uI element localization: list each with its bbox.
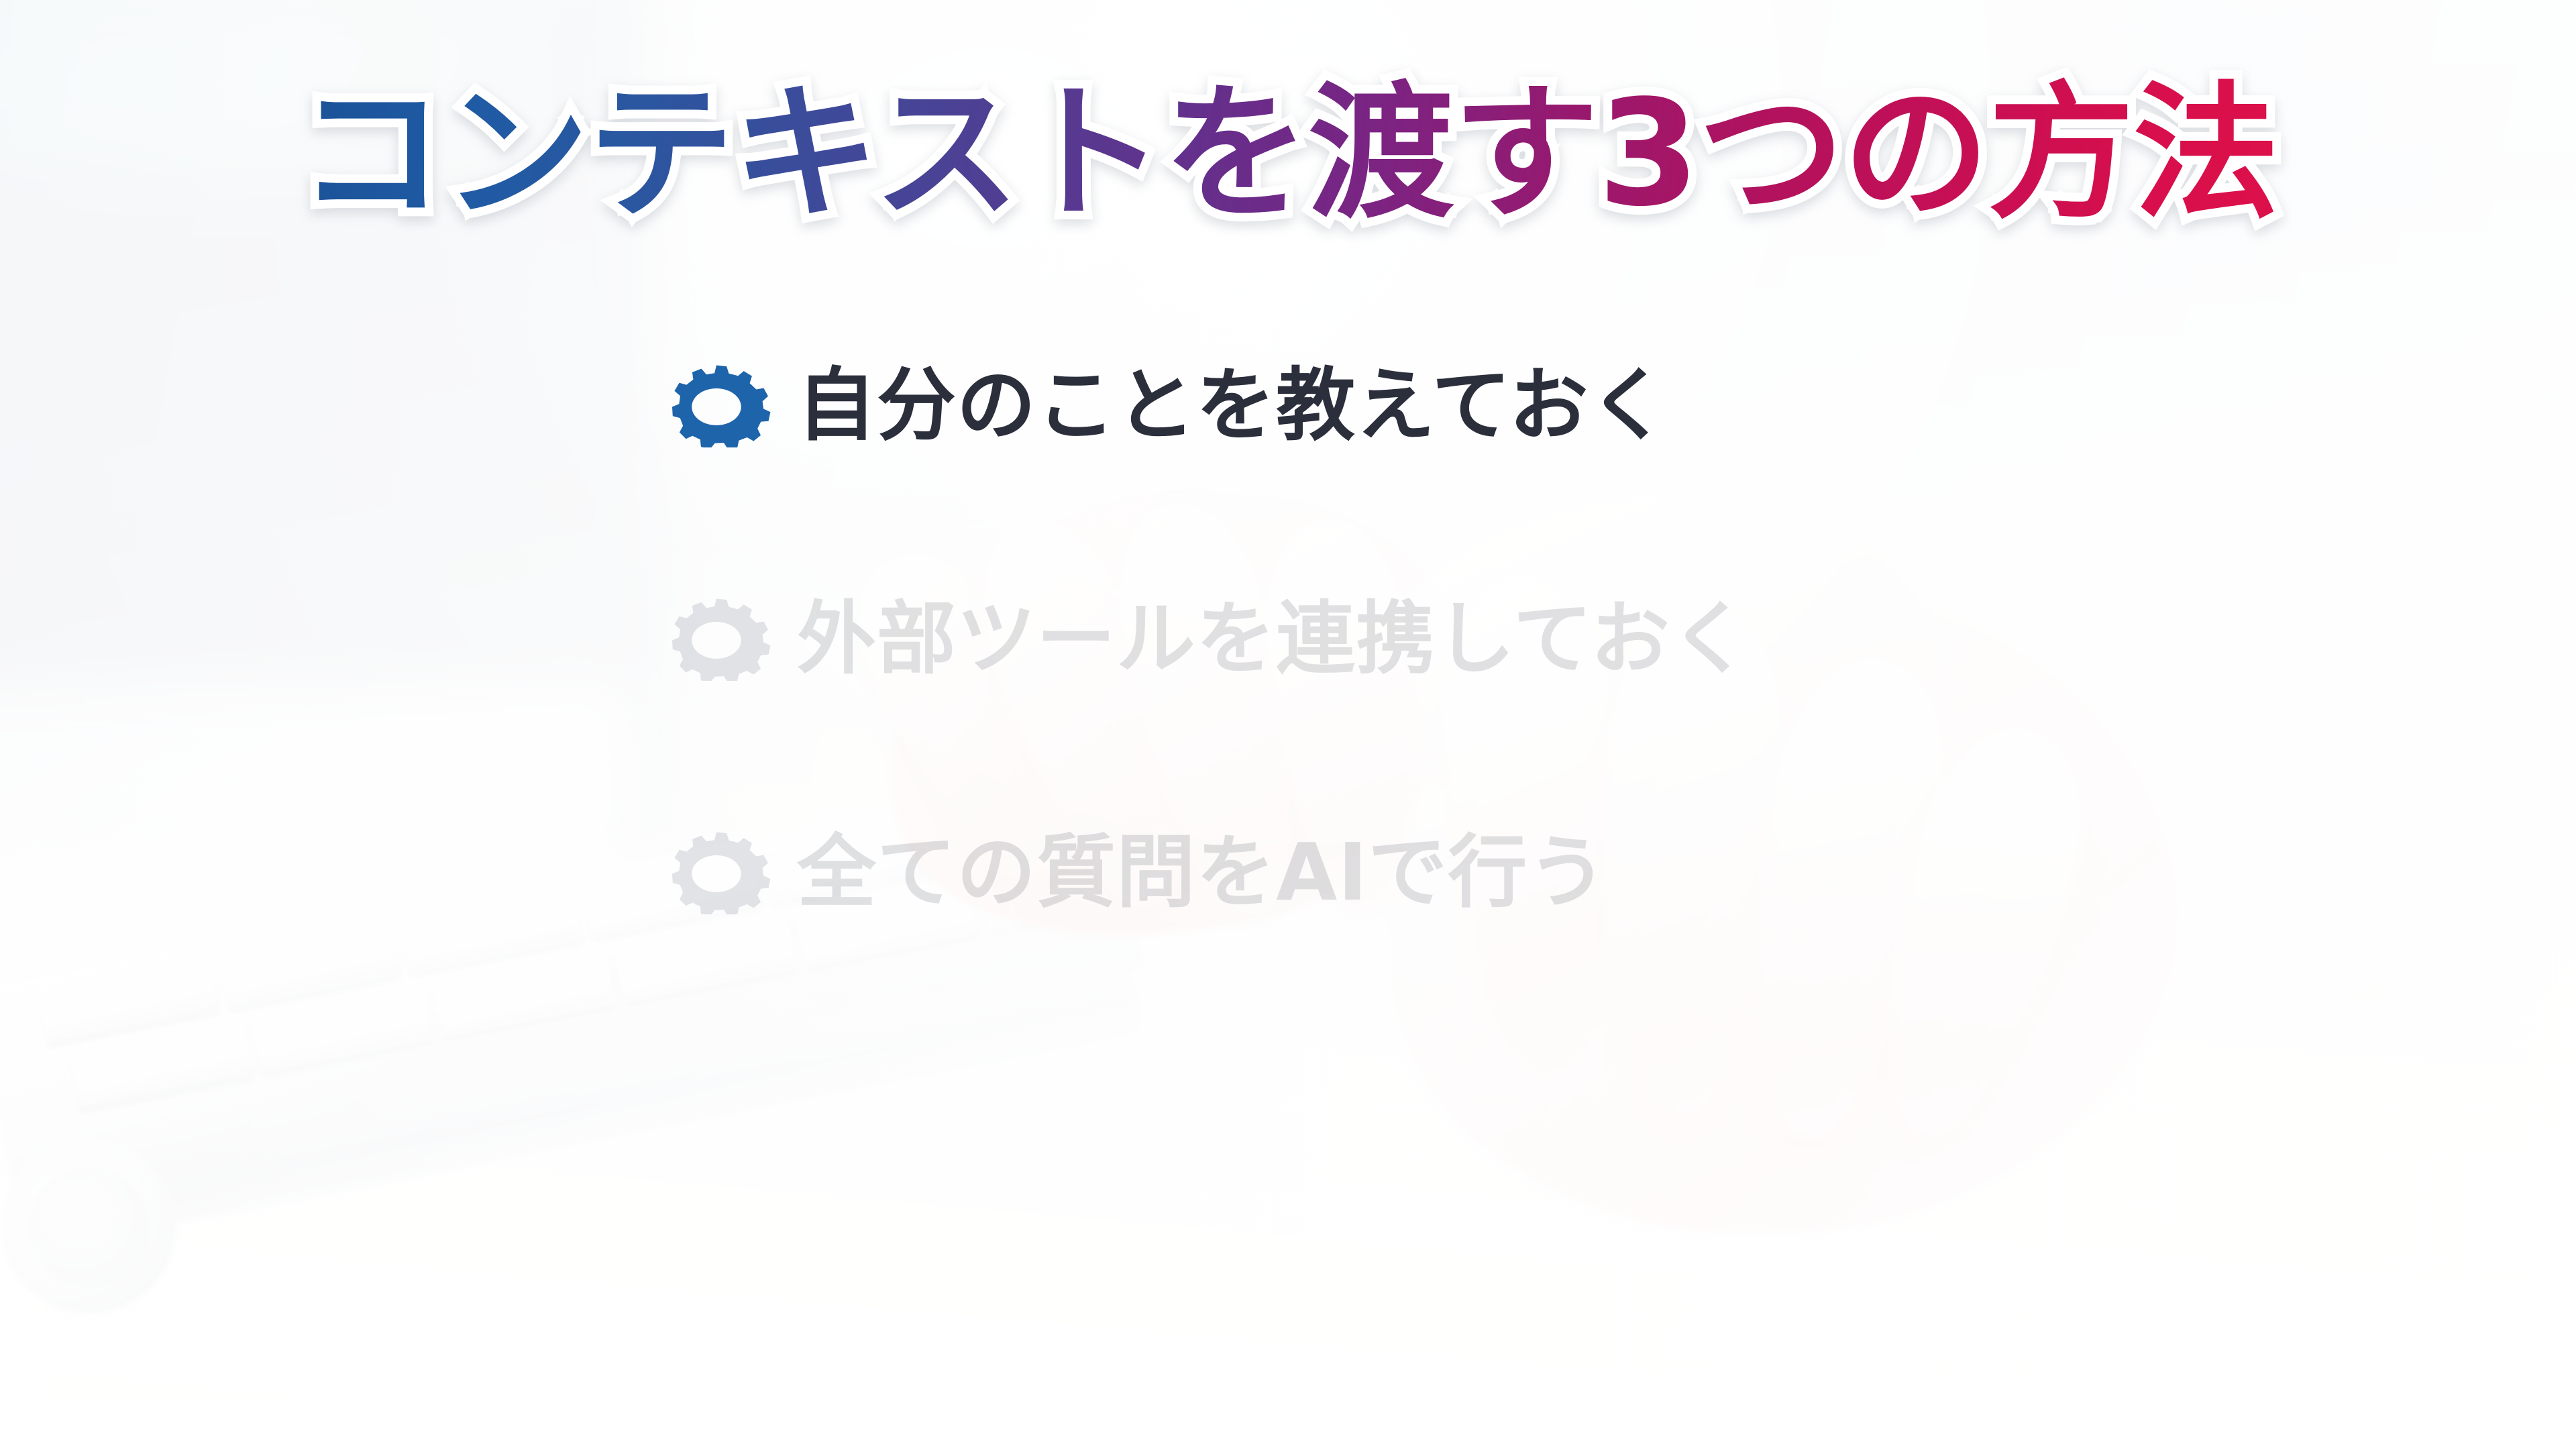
gear-icon [657,831,775,914]
slide-title-wrapper: コンテキストを渡す3つの方法 コンテキストを渡す3つの方法 [0,72,2576,236]
bullet-item-2[interactable]: 外部ツールを連携しておく [657,577,2402,702]
presentation-slide: コンテキストを渡す3つの方法 コンテキストを渡す3つの方法 自分のことを教えてお… [0,0,2576,1449]
bullet-list: 自分のことを教えておく 外部ツールを連携しておく 全ての質問をAIで行う [657,343,2402,935]
bullet-item-3[interactable]: 全ての質問をAIで行う [657,810,2402,935]
bullet-label-1: 自分のことを教えておく [797,364,1669,447]
bullet-label-2: 外部ツールを連携しておく [797,598,1750,681]
bullet-item-1[interactable]: 自分のことを教えておく [657,343,2402,468]
gear-icon [657,598,775,681]
bullet-label-3: 全ての質問をAIで行う [797,831,1607,914]
slide-title: コンテキストを渡す3つの方法 コンテキストを渡す3つの方法 [298,72,2277,236]
slide-title-text: コンテキストを渡す3つの方法 [298,69,2277,239]
gear-icon [657,364,775,447]
slide-content: コンテキストを渡す3つの方法 コンテキストを渡す3つの方法 自分のことを教えてお… [0,0,2576,1449]
